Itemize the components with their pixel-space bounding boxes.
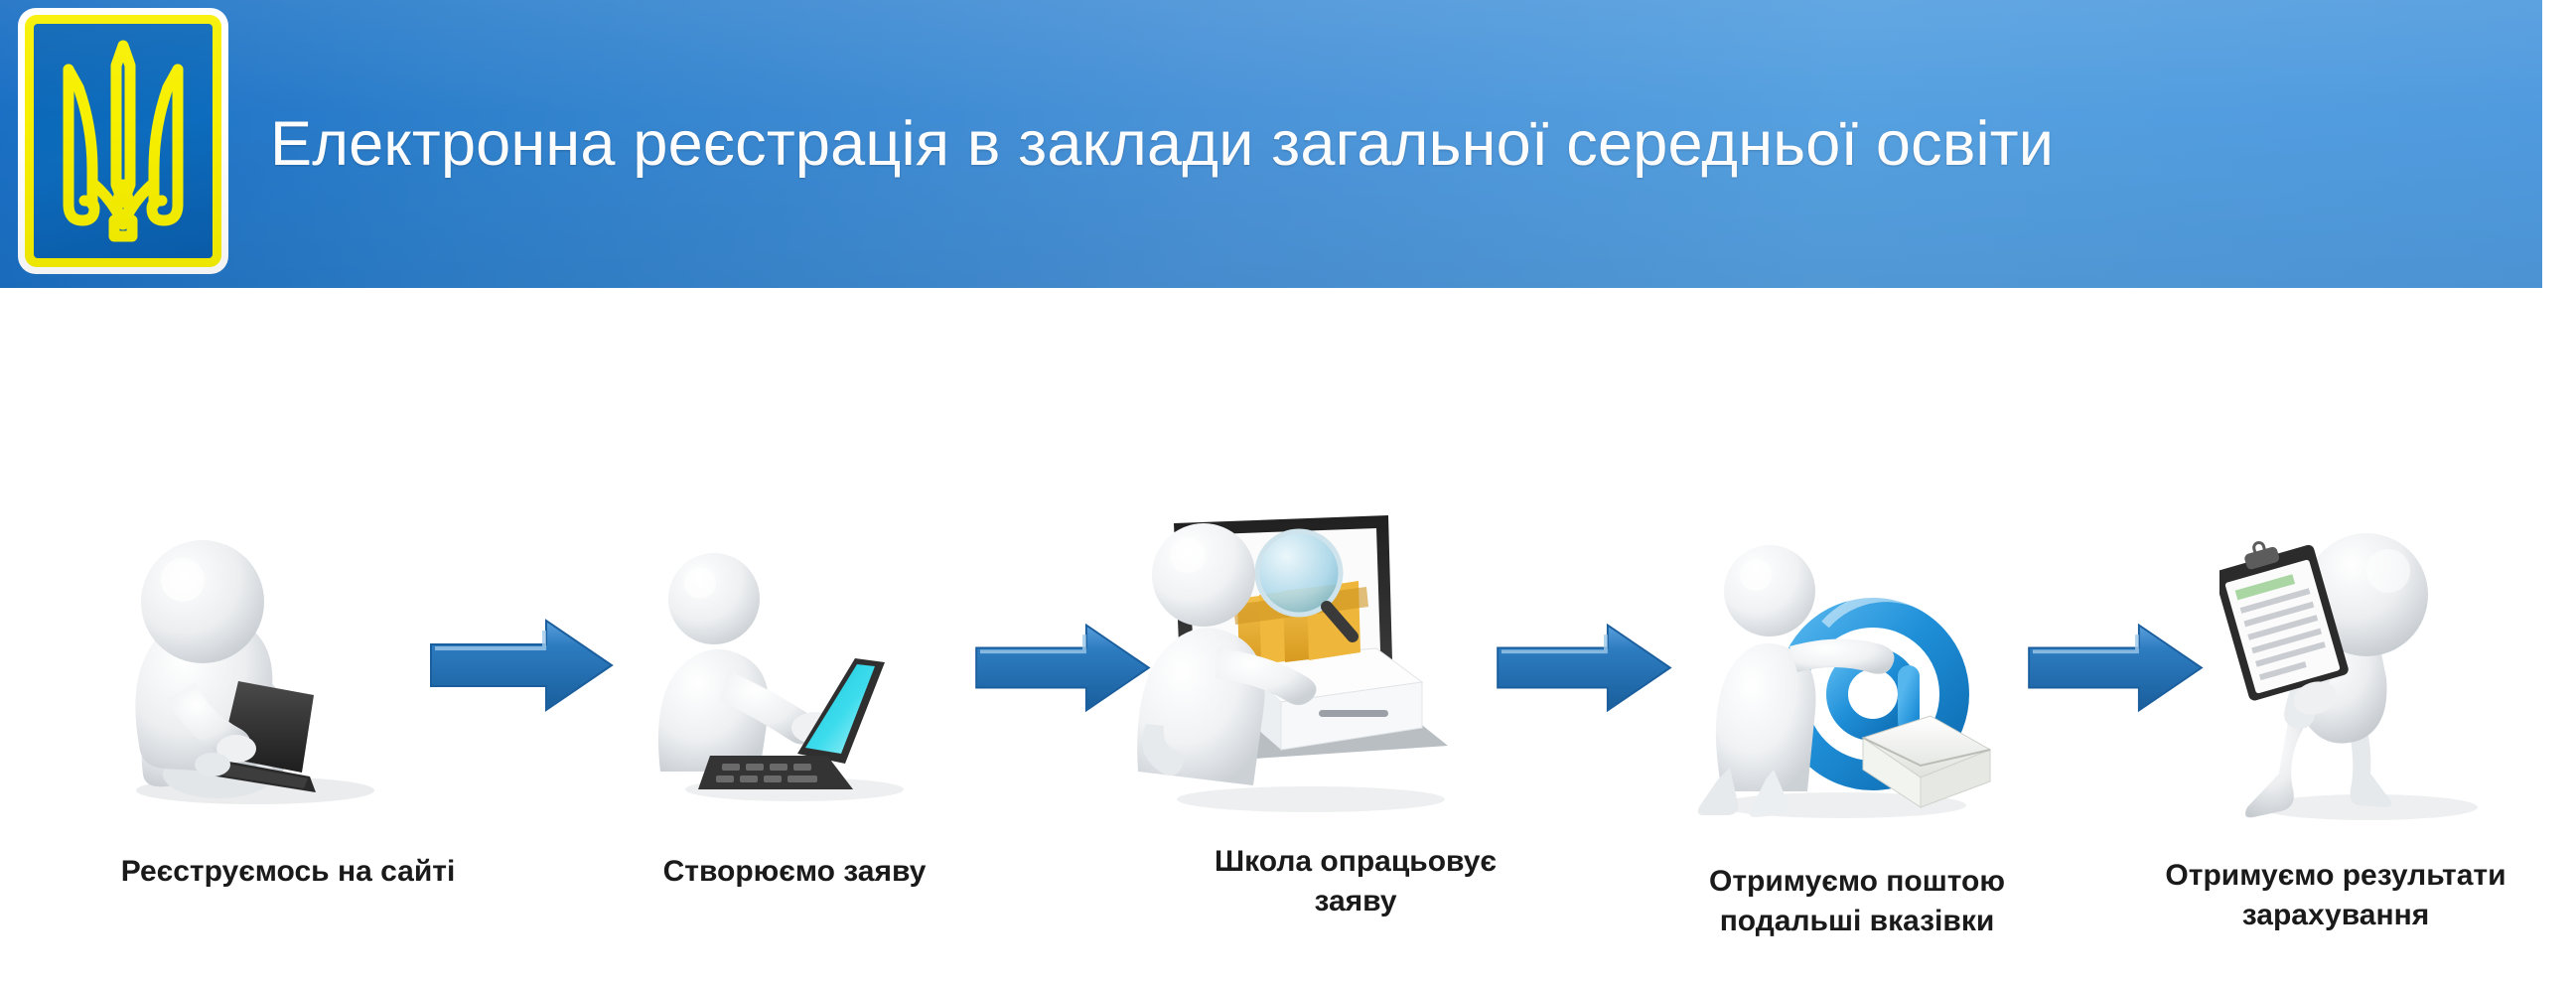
step-5-illustration	[2219, 521, 2507, 824]
step-3-caption: Школа опрацьовує заяву	[1077, 842, 1634, 920]
page-title: Електронна реєстрація в заклади загально…	[270, 0, 2054, 288]
ukraine-coat-of-arms-emblem	[18, 8, 228, 274]
arrow-step-4-to-5	[2021, 616, 2210, 720]
step-5-caption: Отримуємо результати зарахування	[2095, 856, 2576, 934]
step-2-illustration	[650, 541, 938, 809]
step-1-caption: Реєструємось на сайті	[40, 852, 536, 892]
emblem-blue-shield	[34, 24, 213, 258]
step-1-illustration	[91, 514, 419, 812]
arrow-step-1-to-2	[427, 611, 616, 720]
emblem-yellow-border	[25, 15, 221, 267]
arrow-step-3-to-4	[1490, 616, 1678, 720]
step-4-illustration	[1678, 541, 1996, 824]
step-4-caption: Отримуємо поштою подальші вказівки	[1609, 862, 2105, 940]
header-banner: Електронна реєстрація в заклади загально…	[0, 0, 2542, 288]
arrow-step-2-to-3	[968, 616, 1157, 720]
trident-icon	[49, 36, 198, 246]
step-3-illustration	[1132, 511, 1470, 819]
step-2-caption: Створюємо заяву	[586, 852, 1003, 892]
